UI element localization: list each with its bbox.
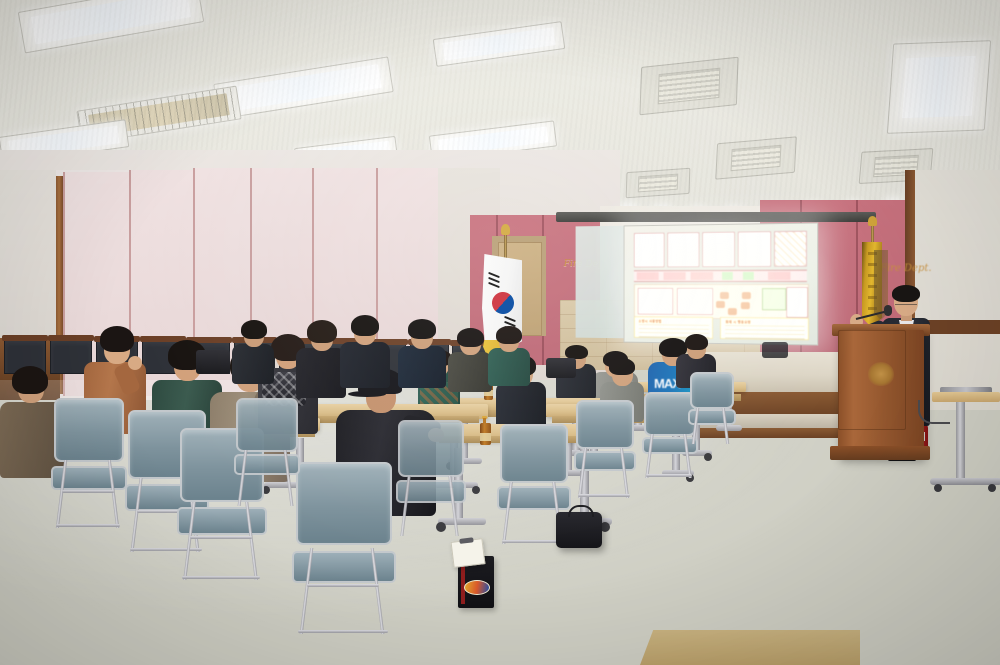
folding-chair[interactable] [644,392,692,478]
ceiling-light [433,21,566,67]
projection-screen-housing [556,212,876,222]
audience-person [488,328,532,386]
ceiling-light [213,56,393,119]
hvac-vent-icon [626,168,691,199]
av-equipment-cart [932,392,1000,502]
handbag[interactable] [546,358,576,378]
folding-chair[interactable] [296,462,388,634]
podium-emblem [868,362,894,386]
folding-chair[interactable] [54,398,120,528]
handbag[interactable] [762,342,788,358]
slide-legend-right: 화재 시 행동요령 [720,317,809,340]
folding-chair[interactable] [236,398,294,506]
slide-floor-plan: 소방시 사용방법 화재 시 행동요령 [625,224,818,345]
audience-person [398,322,448,388]
seminar-room-photo: Fire Dept. Fire Dept. [0,0,1000,665]
ceiling-light [18,0,205,53]
hvac-vent-icon [639,57,738,116]
ceiling-light [887,40,991,134]
hvac-vent-icon [715,136,797,179]
audience-person [232,322,276,384]
clipboard[interactable] [451,538,486,568]
microphone [856,296,894,326]
audience-person [340,318,392,388]
drink-bottle[interactable] [480,418,491,446]
podium [838,330,924,458]
handbag[interactable] [196,350,230,374]
folding-chair[interactable] [398,420,460,536]
podium-base [830,446,930,460]
ceiling-light [76,86,241,145]
folding-chair[interactable] [500,424,564,544]
folding-chair[interactable] [690,372,730,444]
folding-chair[interactable] [576,400,630,498]
floor-mat [640,630,860,665]
projection-screen: 소방시 사용방법 화재 시 행동요령 [624,222,819,345]
shoulder-bag[interactable] [556,512,602,548]
